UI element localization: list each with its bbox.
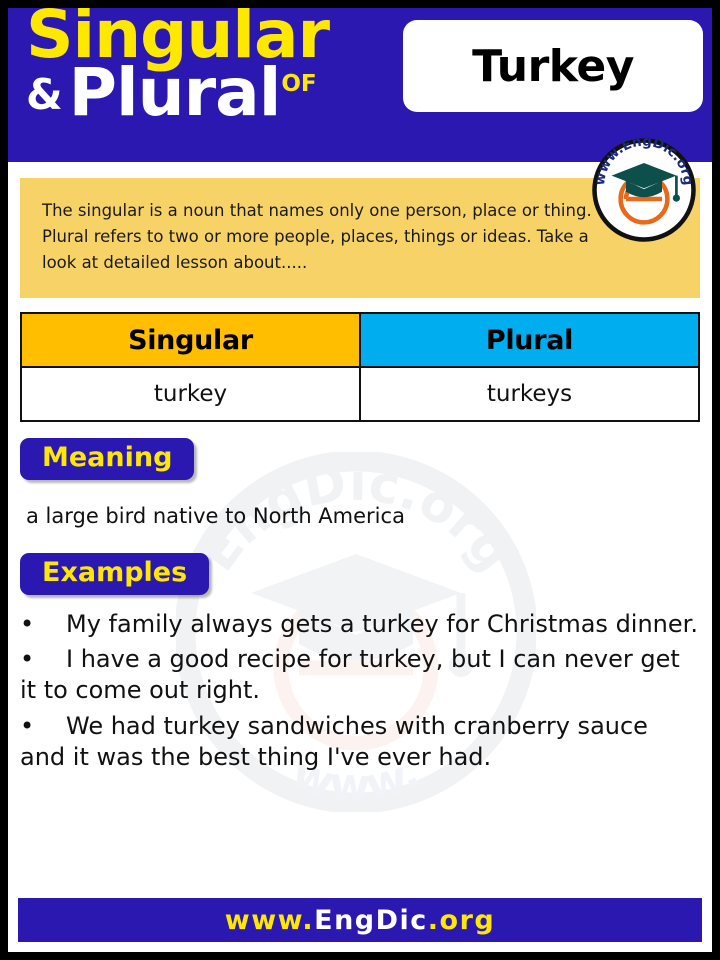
column-header-plural: Plural (360, 313, 699, 367)
infographic-page: Singular &PluralOF Turkey (0, 0, 720, 960)
example-text: We had turkey sandwiches with cranberry … (20, 712, 648, 771)
headword-pill: Turkey (403, 20, 703, 112)
footer-brand: EngDic (314, 905, 428, 936)
meaning-text: a large bird native to North America (26, 502, 700, 531)
meaning-section: Meaning (20, 438, 700, 480)
examples-badge: Examples (20, 553, 209, 595)
singular-plural-table: Singular Plural turkey turkeys (20, 312, 700, 422)
bullet-icon: • (20, 711, 66, 742)
list-item: •I have a good recipe for turkey, but I … (20, 644, 700, 706)
page-title: Singular &PluralOF (26, 8, 426, 124)
table-row: turkey turkeys (21, 367, 699, 421)
list-item: •We had turkey sandwiches with cranberry… (20, 711, 700, 773)
description-text: The singular is a noun that names only o… (42, 198, 617, 276)
body-area: EngDic.org www. Singular Plural (8, 312, 712, 773)
headword-label: Turkey (472, 41, 634, 92)
footer-website: www.EngDic.org (225, 905, 496, 936)
example-text: I have a good recipe for turkey, but I c… (20, 645, 680, 704)
cell-plural-value: turkeys (360, 367, 699, 421)
footer-suffix: .org (428, 905, 495, 936)
engdic-logo-icon: www.EngDic.org (590, 136, 698, 244)
cell-singular-value: turkey (21, 367, 360, 421)
examples-list: •My family always gets a turkey for Chri… (20, 609, 700, 773)
example-text: My family always gets a turkey for Chris… (66, 610, 698, 638)
table-header-row: Singular Plural (21, 313, 699, 367)
bullet-icon: • (20, 609, 66, 640)
examples-section: Examples (20, 553, 700, 595)
meaning-badge: Meaning (20, 438, 194, 480)
page-sheet: Singular &PluralOF Turkey (8, 8, 712, 952)
column-header-singular: Singular (21, 313, 360, 367)
footer-prefix: www. (225, 905, 314, 936)
title-of-superscript: OF (281, 71, 316, 97)
footer-bar: www.EngDic.org (18, 898, 702, 942)
title-plural: Plural (69, 54, 281, 131)
bullet-icon: • (20, 644, 66, 675)
list-item: •My family always gets a turkey for Chri… (20, 609, 700, 640)
title-ampersand: & (26, 70, 63, 119)
